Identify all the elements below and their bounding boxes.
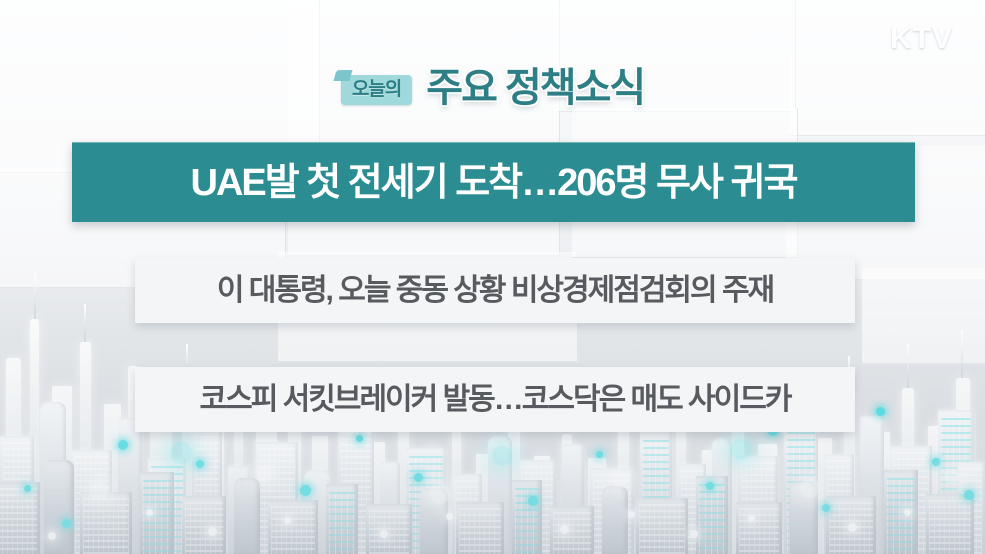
skyline-haze-overlay	[0, 324, 985, 554]
program-title-row: 오늘의 주요 정책소식	[0, 58, 985, 118]
program-title: 주요 정책소식	[426, 68, 644, 108]
broadcast-graphic-screen: KTV 오늘의 주요 정책소식 UAE발 첫 전세기 도착…206명 무사 귀국…	[0, 0, 985, 554]
ktv-channel-logo: KTV	[890, 22, 953, 56]
headline-secondary-1: 이 대통령, 오늘 중동 상황 비상경제점검회의 주재	[135, 258, 855, 323]
headline-secondary-2: 코스피 서킷브레이커 발동…코스닥은 매도 사이드카	[135, 367, 855, 432]
headline-primary: UAE발 첫 전세기 도착…206명 무사 귀국	[72, 142, 915, 222]
today-badge: 오늘의	[341, 75, 412, 105]
